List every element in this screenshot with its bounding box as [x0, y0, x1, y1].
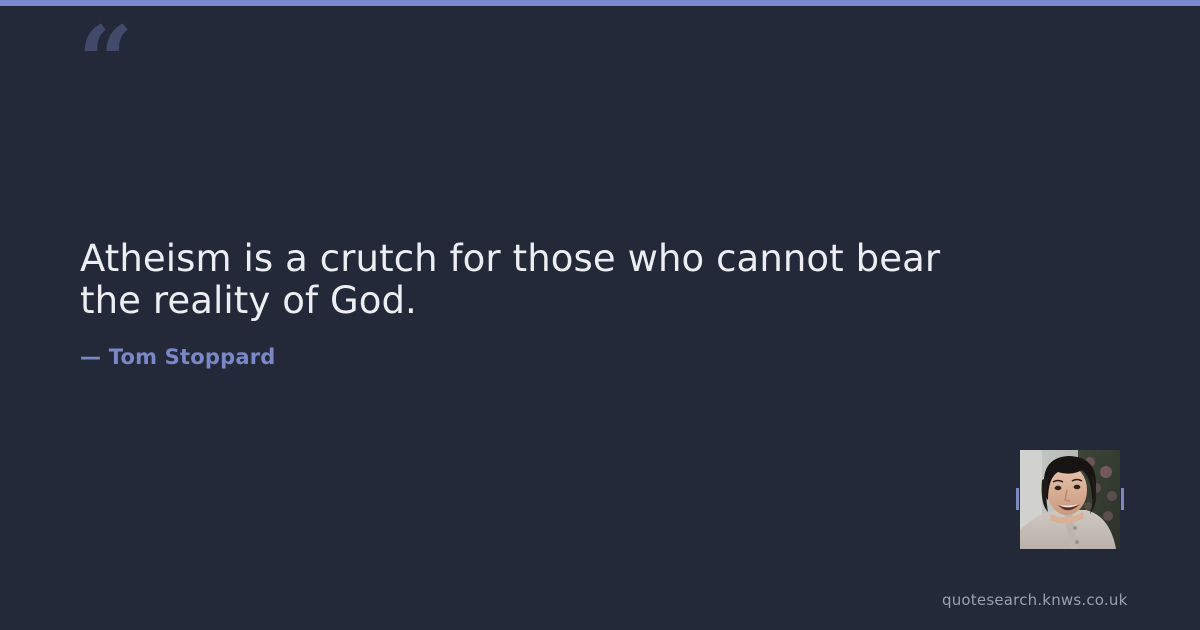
site-url-footer: quotesearch.knws.co.uk: [942, 591, 1127, 609]
author-portrait-image: [1020, 450, 1120, 549]
open-quote-icon: “: [78, 14, 131, 110]
quote-card: “ Atheism is a crutch for those who cann…: [0, 0, 1200, 630]
portrait-right-tick-icon: [1121, 488, 1124, 510]
portrait-left-tick-icon: [1016, 488, 1019, 510]
quote-body: Atheism is a crutch for those who cannot…: [80, 238, 980, 322]
author-portrait-container: [1020, 450, 1120, 549]
top-accent-bar: [0, 0, 1200, 6]
author-attribution: — Tom Stoppard: [80, 345, 275, 369]
quote-text-line-1: Atheism is a crutch for those who cannot…: [80, 238, 980, 280]
quote-text-line-2: the reality of God.: [80, 280, 980, 322]
